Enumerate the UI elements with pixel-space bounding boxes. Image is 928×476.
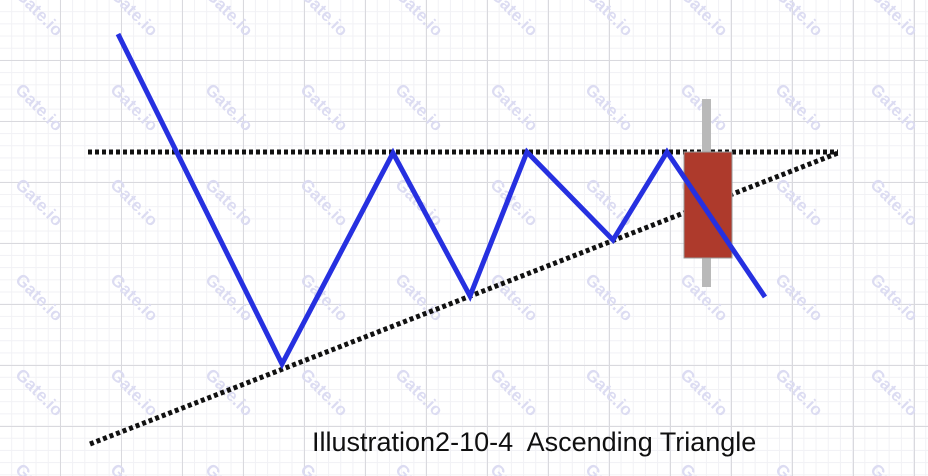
chart-drawing-layer xyxy=(0,0,928,476)
candlestick-body xyxy=(684,152,732,258)
price-zigzag-line xyxy=(118,34,765,364)
chart-svg xyxy=(0,0,928,476)
ascending-triangle-chart: Gate.ioGate.ioGate.ioGate.ioGate.ioGate.… xyxy=(0,0,928,476)
chart-caption: Illustration2-10-4 Ascending Triangle xyxy=(312,427,756,458)
